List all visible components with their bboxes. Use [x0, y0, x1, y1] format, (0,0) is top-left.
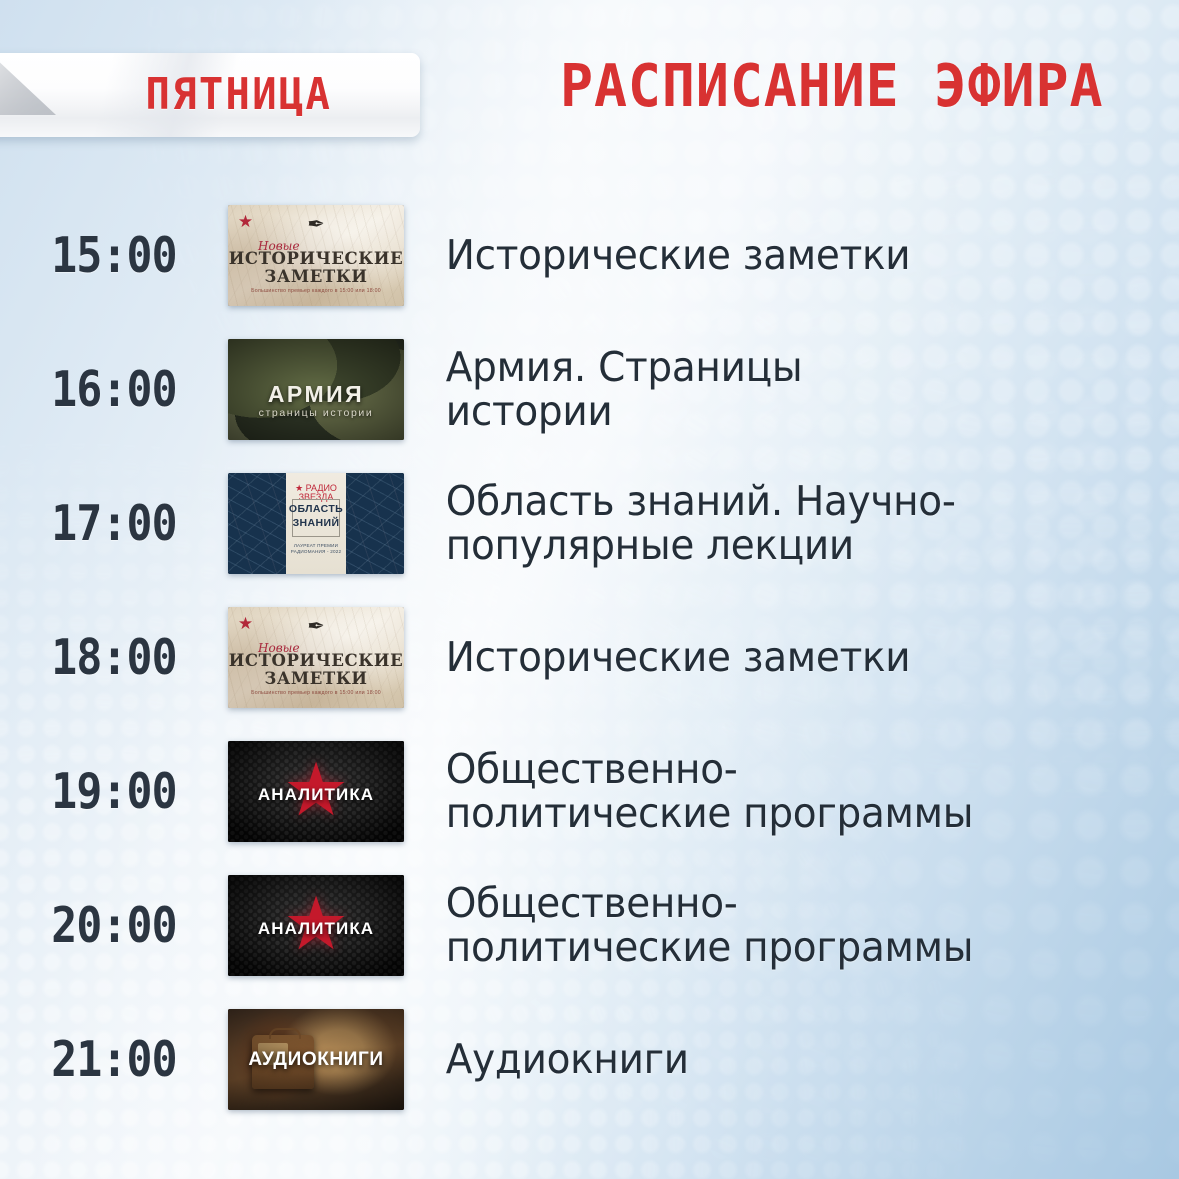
- program-time: 20:00: [14, 897, 215, 954]
- schedule-row[interactable]: 21:00АУДИОКНИГИАудиокниги: [0, 992, 1179, 1126]
- program-thumbnail[interactable]: ★✒НовыеИСТОРИЧЕСКИЕЗАМЕТКИБольшинство пр…: [228, 607, 404, 708]
- thumb-title-line1: ИСТОРИЧЕСКИЕ: [228, 249, 404, 268]
- program-time: 19:00: [14, 763, 215, 820]
- program-time: 17:00: [14, 495, 215, 552]
- program-thumbnail[interactable]: АРМИЯстраницы истории: [228, 339, 404, 440]
- program-time: 15:00: [14, 227, 215, 284]
- day-banner: ПЯТНИЦА: [0, 53, 420, 137]
- program-thumbnail[interactable]: АУДИОКНИГИ: [228, 1009, 404, 1110]
- thumb-art-knowledge: ★ РАДИО ЗВЕЗДАОБЛАСТЬЗНАНИЙЛАУРЕАТ ПРЕМИ…: [228, 473, 404, 574]
- thumb-title-line2: ЗНАНИЙ: [286, 517, 346, 529]
- thumb-title-line1: ИСТОРИЧЕСКИЕ: [228, 651, 404, 670]
- program-time: 21:00: [14, 1031, 215, 1088]
- poster-header: ПЯТНИЦА РАСПИСАНИЕ ЭФИРА: [0, 0, 1179, 170]
- thumb-caption: ЛАУРЕАТ ПРЕМИИ РАДИОМАНИЯ - 2022: [286, 543, 346, 557]
- program-thumbnail[interactable]: ★✒НовыеИСТОРИЧЕСКИЕЗАМЕТКИБольшинство пр…: [228, 205, 404, 306]
- thumb-title-line1: АНАЛИТИКА: [228, 919, 404, 939]
- program-thumbnail[interactable]: ★ РАДИО ЗВЕЗДАОБЛАСТЬЗНАНИЙЛАУРЕАТ ПРЕМИ…: [228, 473, 404, 574]
- schedule-row[interactable]: 15:00★✒НовыеИСТОРИЧЕСКИЕЗАМЕТКИБольшинст…: [0, 188, 1179, 322]
- schedule-poster: ПЯТНИЦА РАСПИСАНИЕ ЭФИРА 15:00★✒НовыеИСТ…: [0, 0, 1179, 1179]
- program-title: Исторические заметки: [404, 233, 1140, 277]
- thumb-art-historical-notes: ★✒НовыеИСТОРИЧЕСКИЕЗАМЕТКИБольшинство пр…: [228, 607, 404, 708]
- schedule-row[interactable]: 17:00★ РАДИО ЗВЕЗДАОБЛАСТЬЗНАНИЙЛАУРЕАТ …: [0, 456, 1179, 590]
- program-title: Общественно- политические программы: [404, 747, 1140, 836]
- program-time: 16:00: [14, 361, 215, 418]
- red-star-icon: ★: [237, 213, 254, 230]
- schedule-list: 15:00★✒НовыеИСТОРИЧЕСКИЕЗАМЕТКИБольшинст…: [0, 188, 1179, 1126]
- thumb-art-analytics: ★АНАЛИТИКА: [228, 875, 404, 976]
- schedule-row[interactable]: 18:00★✒НовыеИСТОРИЧЕСКИЕЗАМЕТКИБольшинст…: [0, 590, 1179, 724]
- schedule-row[interactable]: 16:00АРМИЯстраницы историиАрмия. Страниц…: [0, 322, 1179, 456]
- thumb-title-line1: АУДИОКНИГИ: [228, 1049, 404, 1071]
- day-label: ПЯТНИЦА: [3, 53, 402, 137]
- thumb-title-line2: ЗАМЕТКИ: [228, 267, 404, 286]
- thumb-art-audiobooks: АУДИОКНИГИ: [228, 1009, 404, 1110]
- schedule-row[interactable]: 19:00★АНАЛИТИКАОбщественно- политические…: [0, 724, 1179, 858]
- thumb-title-line1: ОБЛАСТЬ: [286, 503, 346, 515]
- thumb-title-line1: АНАЛИТИКА: [228, 785, 404, 805]
- thumb-art-army: АРМИЯстраницы истории: [228, 339, 404, 440]
- program-title: Аудиокниги: [404, 1037, 1140, 1081]
- thumb-title-line2: ЗАМЕТКИ: [228, 669, 404, 688]
- program-thumbnail[interactable]: ★АНАЛИТИКА: [228, 741, 404, 842]
- red-star-icon: ★: [237, 615, 254, 632]
- program-title: Общественно- политические программы: [404, 881, 1140, 970]
- program-time: 18:00: [14, 629, 215, 686]
- quill-icon: ✒: [307, 616, 325, 637]
- thumb-center-card: ★ РАДИО ЗВЕЗДАОБЛАСТЬЗНАНИЙЛАУРЕАТ ПРЕМИ…: [286, 473, 346, 574]
- thumb-caption: Большинство премьер каждого в 15:00 или …: [228, 690, 404, 696]
- quill-icon: ✒: [307, 214, 325, 235]
- thumb-art-historical-notes: ★✒НовыеИСТОРИЧЕСКИЕЗАМЕТКИБольшинство пр…: [228, 205, 404, 306]
- schedule-row[interactable]: 20:00★АНАЛИТИКАОбщественно- политические…: [0, 858, 1179, 992]
- program-title: Область знаний. Научно- популярные лекци…: [404, 479, 1140, 568]
- program-thumbnail[interactable]: ★АНАЛИТИКА: [228, 875, 404, 976]
- page-title: РАСПИСАНИЕ ЭФИРА: [560, 56, 1103, 115]
- thumb-art-analytics: ★АНАЛИТИКА: [228, 741, 404, 842]
- thumb-title-line2: страницы истории: [228, 407, 404, 419]
- thumb-caption: Большинство премьер каждого в 15:00 или …: [228, 288, 404, 294]
- program-title: Армия. Страницы истории: [404, 345, 1140, 434]
- thumb-title-line1: АРМИЯ: [228, 381, 404, 408]
- program-title: Исторические заметки: [404, 635, 1140, 679]
